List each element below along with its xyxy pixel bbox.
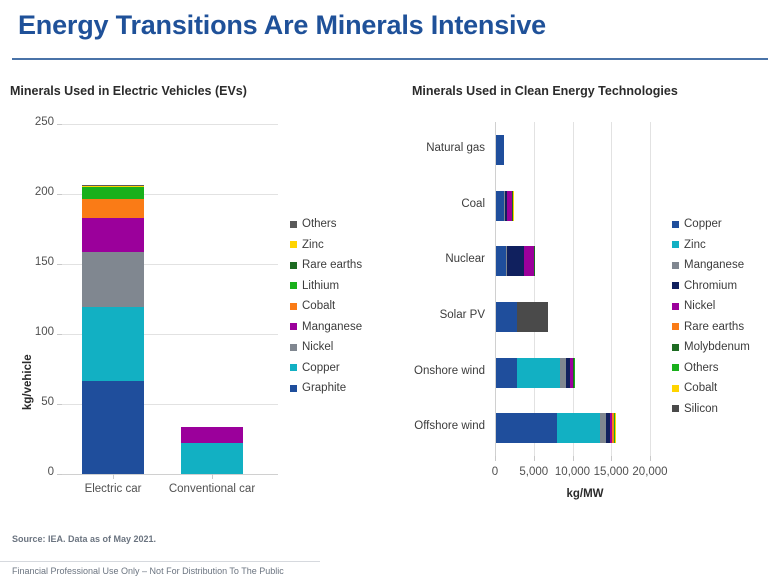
legend-swatch-icon [290, 282, 297, 289]
legend-label: Others [302, 218, 337, 230]
x-tick [573, 456, 574, 461]
bar-segment[interactable] [615, 413, 616, 443]
legend-swatch-icon [290, 241, 297, 248]
legend-swatch-icon [672, 241, 679, 248]
category-label: Coal [400, 198, 485, 210]
legend-swatch-icon [672, 221, 679, 228]
legend-item[interactable]: Zinc [672, 235, 750, 256]
legend-label: Manganese [684, 259, 744, 271]
bar-segment[interactable] [82, 218, 144, 252]
x-tick [495, 456, 496, 461]
bar-segment[interactable] [495, 413, 557, 443]
legend-swatch-icon [672, 364, 679, 371]
legend-item[interactable]: Others [672, 358, 750, 379]
legend-label: Rare earths [302, 259, 362, 271]
y-tick [57, 124, 62, 125]
legend-label: Zinc [302, 239, 324, 251]
category-label: Offshore wind [400, 420, 485, 432]
bar-segment[interactable] [517, 358, 560, 388]
left-chart-legend: OthersZincRare earthsLithiumCobaltMangan… [290, 214, 362, 399]
legend-swatch-icon [672, 323, 679, 330]
category-label: Nuclear [400, 253, 485, 265]
x-tick-label: Conventional car [142, 483, 282, 495]
category-label: Solar PV [400, 309, 485, 321]
legend-item[interactable]: Zinc [290, 235, 362, 256]
legend-label: Copper [302, 362, 340, 374]
legend-label: Others [684, 362, 719, 374]
x-tick [611, 456, 612, 461]
y-tick [57, 404, 62, 405]
legend-label: Nickel [302, 341, 333, 353]
source-note: Source: IEA. Data as of May 2021. [12, 534, 156, 544]
legend-item[interactable]: Molybdenum [672, 337, 750, 358]
gridline [534, 122, 535, 456]
legend-label: Rare earths [684, 321, 744, 333]
y-tick-label: 150 [10, 256, 54, 268]
legend-swatch-icon [672, 385, 679, 392]
legend-item[interactable]: Others [290, 214, 362, 235]
gridline [611, 122, 612, 456]
legend-label: Copper [684, 218, 722, 230]
legend-label: Graphite [302, 382, 346, 394]
gridline [573, 122, 574, 456]
legend-label: Cobalt [684, 382, 717, 394]
bar-segment[interactable] [507, 246, 524, 276]
bar-segment[interactable] [82, 185, 144, 186]
x-tick [650, 456, 651, 461]
legend-item[interactable]: Cobalt [672, 378, 750, 399]
legend-swatch-icon [290, 344, 297, 351]
bar-segment[interactable] [82, 199, 144, 218]
legend-swatch-icon [290, 303, 297, 310]
bar-segment[interactable] [82, 187, 144, 199]
bar-segment[interactable] [524, 246, 534, 276]
y-tick-label: 0 [10, 466, 54, 478]
bar-segment[interactable] [495, 191, 504, 221]
clean-energy-minerals-chart: Natural gasCoalNuclearSolar PVOnshore wi… [400, 110, 670, 500]
bar-segment[interactable] [82, 307, 144, 381]
bar-segment[interactable] [513, 191, 515, 221]
legend-swatch-icon [672, 262, 679, 269]
bar-segment[interactable] [82, 252, 144, 307]
legend-label: Silicon [684, 403, 718, 415]
legend-item[interactable]: Manganese [290, 317, 362, 338]
legend-item[interactable]: Manganese [672, 255, 750, 276]
bar-segment[interactable] [557, 413, 600, 443]
legend-item[interactable]: Rare earths [672, 317, 750, 338]
gridline [650, 122, 651, 456]
legend-swatch-icon [672, 282, 679, 289]
y-tick-label: 100 [10, 326, 54, 338]
x-tick [113, 474, 114, 479]
legend-swatch-icon [290, 385, 297, 392]
y-tick-label: 250 [10, 116, 54, 128]
gridline [62, 124, 278, 125]
legend-item[interactable]: Rare earths [290, 255, 362, 276]
ev-minerals-chart: 050100150200250 Electric carConventional… [0, 110, 290, 500]
title-divider [12, 58, 768, 60]
y-tick [57, 334, 62, 335]
legend-item[interactable]: Nickel [290, 337, 362, 358]
legend-swatch-icon [290, 364, 297, 371]
legend-label: Lithium [302, 280, 339, 292]
legend-item[interactable]: Lithium [290, 276, 362, 297]
legend-label: Manganese [302, 321, 362, 333]
y-tick [57, 264, 62, 265]
x-axis-line [62, 474, 278, 475]
bar-segment[interactable] [517, 302, 548, 332]
bar-segment[interactable] [495, 246, 506, 276]
bar-segment[interactable] [495, 302, 517, 332]
legend-item[interactable]: Silicon [672, 399, 750, 420]
page-title: Energy Transitions Are Minerals Intensiv… [18, 10, 546, 41]
legend-item[interactable]: Copper [290, 358, 362, 379]
category-label: Natural gas [400, 142, 485, 154]
left-chart-y-axis-title: kg/vehicle [22, 354, 34, 410]
right-chart-legend: CopperZincManganeseChromiumNickelRare ea… [672, 214, 750, 419]
legend-swatch-icon [290, 221, 297, 228]
y-axis-line [495, 122, 496, 456]
disclaimer-text: Financial Professional Use Only – Not Fo… [12, 566, 284, 576]
x-tick [534, 456, 535, 461]
legend-label: Nickel [684, 300, 715, 312]
bar-segment[interactable] [574, 358, 575, 388]
legend-label: Zinc [684, 239, 706, 251]
legend-swatch-icon [290, 262, 297, 269]
legend-swatch-icon [672, 344, 679, 351]
legend-item[interactable]: Nickel [672, 296, 750, 317]
y-tick-label: 200 [10, 186, 54, 198]
legend-swatch-icon [672, 303, 679, 310]
bar-segment[interactable] [181, 427, 243, 443]
bar-segment[interactable] [181, 443, 243, 474]
legend-swatch-icon [672, 405, 679, 412]
bar-segment[interactable] [82, 381, 144, 474]
legend-label: Cobalt [302, 300, 335, 312]
bar-segment[interactable] [495, 135, 504, 165]
x-tick-label: 20,000 [622, 466, 678, 478]
right-chart-title: Minerals Used in Clean Energy Technologi… [412, 84, 678, 98]
footer-divider [0, 561, 320, 562]
legend-swatch-icon [290, 323, 297, 330]
bar-segment[interactable] [495, 358, 517, 388]
legend-label: Molybdenum [684, 341, 750, 353]
x-tick [212, 474, 213, 479]
legend-item[interactable]: Graphite [290, 378, 362, 399]
category-label: Onshore wind [400, 365, 485, 377]
left-chart-title: Minerals Used in Electric Vehicles (EVs) [10, 84, 247, 98]
right-chart-x-axis-title: kg/MW [555, 488, 615, 500]
legend-item[interactable]: Copper [672, 214, 750, 235]
bar-segment[interactable] [534, 246, 535, 276]
y-tick [57, 194, 62, 195]
legend-item[interactable]: Cobalt [290, 296, 362, 317]
legend-label: Chromium [684, 280, 737, 292]
legend-item[interactable]: Chromium [672, 276, 750, 297]
